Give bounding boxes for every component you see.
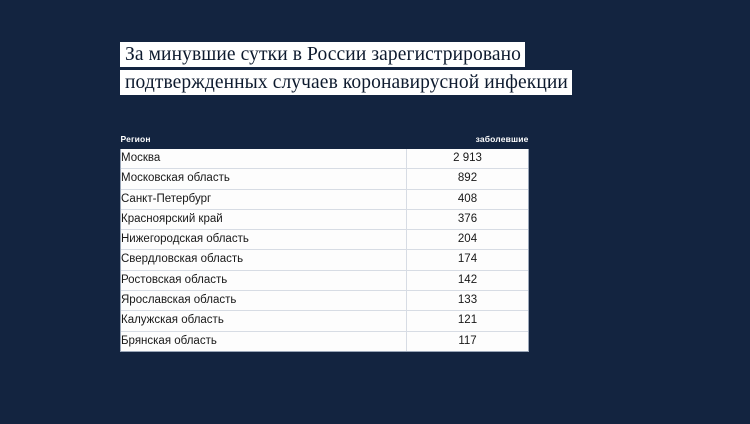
cases-table: Регион заболевшие Москва 2 913 Московска…: [120, 130, 529, 352]
page-title-line-2: подтвержденных случаев коронавирусной ин…: [120, 70, 572, 95]
table-row: Ярославская область 133: [121, 291, 529, 311]
cell-region: Москва: [121, 149, 407, 169]
page-title: За минувшие сутки в России зарегистриров…: [120, 42, 680, 95]
cell-cases: 892: [407, 169, 529, 189]
table-header: Регион заболевшие: [121, 130, 529, 149]
cell-region: Брянская область: [121, 331, 407, 351]
cell-region: Ярославская область: [121, 291, 407, 311]
table-row: Нижегородская область 204: [121, 230, 529, 250]
cell-region: Ростовская область: [121, 270, 407, 290]
column-header-region: Регион: [121, 130, 407, 149]
cell-cases: 142: [407, 270, 529, 290]
page-title-line-1: За минувшие сутки в России зарегистриров…: [120, 42, 525, 67]
cell-cases: 376: [407, 209, 529, 229]
cell-region: Нижегородская область: [121, 230, 407, 250]
table-header-row: Регион заболевшие: [121, 130, 529, 149]
table-body: Москва 2 913 Московская область 892 Санк…: [121, 149, 529, 351]
table-row: Ростовская область 142: [121, 270, 529, 290]
table-row: Москва 2 913: [121, 149, 529, 169]
slide-root: За минувшие сутки в России зарегистриров…: [0, 0, 750, 424]
cell-cases: 117: [407, 331, 529, 351]
cell-cases: 2 913: [407, 149, 529, 169]
cell-region: Красноярский край: [121, 209, 407, 229]
cell-region: Свердловская область: [121, 250, 407, 270]
table-row: Красноярский край 376: [121, 209, 529, 229]
table-row: Санкт-Петербург 408: [121, 189, 529, 209]
column-header-cases: заболевшие: [407, 130, 529, 149]
cell-region: Московская область: [121, 169, 407, 189]
cell-cases: 121: [407, 311, 529, 331]
cell-cases: 174: [407, 250, 529, 270]
cell-region: Калужская область: [121, 311, 407, 331]
cell-cases: 408: [407, 189, 529, 209]
table-row: Московская область 892: [121, 169, 529, 189]
table-row: Брянская область 117: [121, 331, 529, 351]
cases-table-container: Регион заболевшие Москва 2 913 Московска…: [120, 130, 528, 352]
table-row: Свердловская область 174: [121, 250, 529, 270]
table-row: Калужская область 121: [121, 311, 529, 331]
cell-cases: 204: [407, 230, 529, 250]
cell-cases: 133: [407, 291, 529, 311]
cell-region: Санкт-Петербург: [121, 189, 407, 209]
